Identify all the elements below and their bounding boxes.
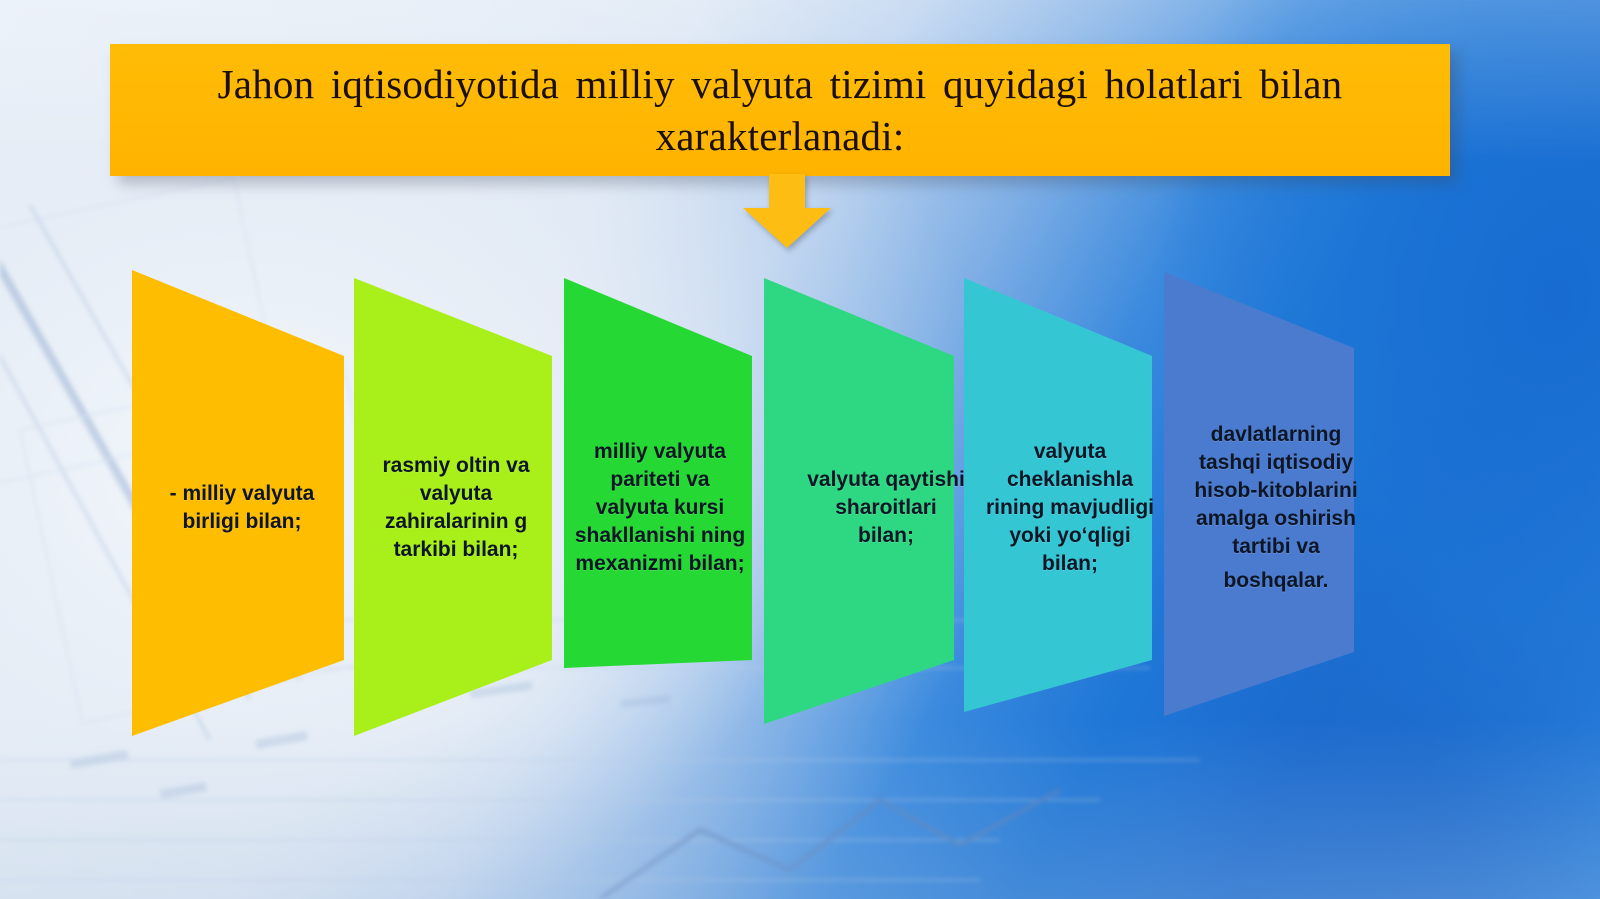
chevron-panel-5-label: valyuta cheklanishla rining mavjudligi y… (980, 438, 1160, 578)
chevron-panel-group: - milliy valyuta birligi bilan; rasmiy o… (0, 0, 1600, 899)
chevron-panel-6-label-tail: boshqalar. (1190, 567, 1362, 595)
chevron-panel-1-label: - milliy valyuta birligi bilan; (144, 480, 340, 536)
chevron-panel-6-label: davlatlarning tashqi iqtisodiy hisob-kit… (1190, 421, 1362, 595)
chevron-panel-6-label-main: davlatlarning tashqi iqtisodiy hisob-kit… (1194, 423, 1357, 558)
slide-canvas: Jahon iqtisodiyotida milliy valyuta tizi… (0, 0, 1600, 899)
chevron-shape-1 (130, 0, 390, 899)
chevron-panel-3-label: milliy valyuta pariteti va valyuta kursi… (574, 438, 746, 578)
chevron-panel-6[interactable]: davlatlarning tashqi iqtisodiy hisob-kit… (1162, 0, 1422, 899)
chevron-panel-2-label: rasmiy oltin va valyuta zahiralarinin g … (370, 452, 542, 564)
chevron-panel-4-label: valyuta qaytishi sharoitlari bilan; (806, 466, 966, 550)
chevron-panel-1[interactable]: - milliy valyuta birligi bilan; (130, 0, 390, 899)
